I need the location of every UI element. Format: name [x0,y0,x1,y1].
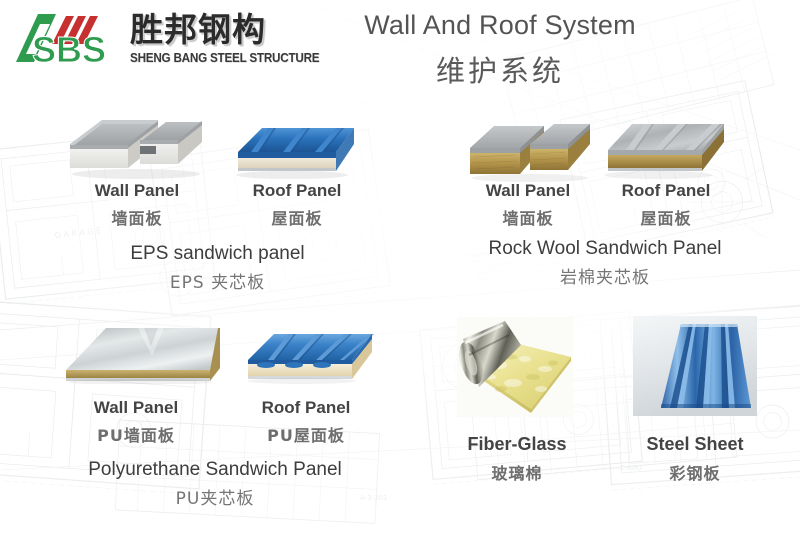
rockwool-roof-label-en: Roof Panel [596,181,736,201]
pu-roof-label-en: Roof Panel [226,398,386,418]
pu-roof-label-cn: PU屋面板 [226,422,386,446]
eps-wall-panel-image [66,110,206,182]
eps-wall-label-cn: 墙面板 [62,205,212,229]
slide-canvas: G A R A G E Family Room C-60G A-3-201 SB… [0,0,800,533]
pu-group-label-cn: PU夹芯板 [35,484,395,509]
company-logo: SBS SBS 胜邦钢构 SHENG BANG STEEL STRUCTURE [8,6,278,74]
rockwool-group-label-en: Rock Wool Sandwich Panel [440,238,770,260]
fiber-glass-label-en: Fiber-Glass [442,434,592,455]
eps-group-label-cn: EPS 夹芯板 [45,268,390,293]
steel-sheet-label-en: Steel Sheet [620,434,770,455]
fiber-glass-roll-image [457,317,573,417]
rockwool-wall-label-cn: 墙面板 [458,205,598,229]
eps-roof-label-cn: 屋面板 [222,205,372,229]
rockwool-roof-label-cn: 屋面板 [596,205,736,229]
steel-sheet-image [633,316,757,416]
eps-roof-panel-image [232,118,360,180]
pu-roof-panel-image [244,326,380,384]
steel-sheet-label-cn: 彩钢板 [620,460,770,484]
pu-group-label-en: Polyurethane Sandwich Panel [35,459,395,481]
pu-wall-label-cn: PU墙面板 [56,422,216,446]
sbs-logo-mark: SBS SBS [10,10,128,70]
fiber-glass-label-cn: 玻璃棉 [442,460,592,484]
logo-chinese-name: 胜邦钢构 [130,8,278,52]
rockwool-wall-label-en: Wall Panel [458,181,598,201]
eps-roof-label-en: Roof Panel [222,181,372,201]
rockwool-roof-panel-image [600,114,730,182]
pu-wall-label-en: Wall Panel [56,398,216,418]
svg-text:SBS: SBS [32,29,106,70]
pu-wall-panel-image [60,322,228,384]
rockwool-wall-panel-image [468,114,594,184]
logo-english-name: SHENG BANG STEEL STRUCTURE [130,50,271,68]
eps-wall-label-en: Wall Panel [62,181,212,201]
eps-group-label-en: EPS sandwich panel [45,243,390,265]
page-title-chinese: 维护系统 [300,48,700,90]
rockwool-group-label-cn: 岩棉夹芯板 [440,263,770,288]
page-title-english: Wall And Roof System [300,10,700,41]
